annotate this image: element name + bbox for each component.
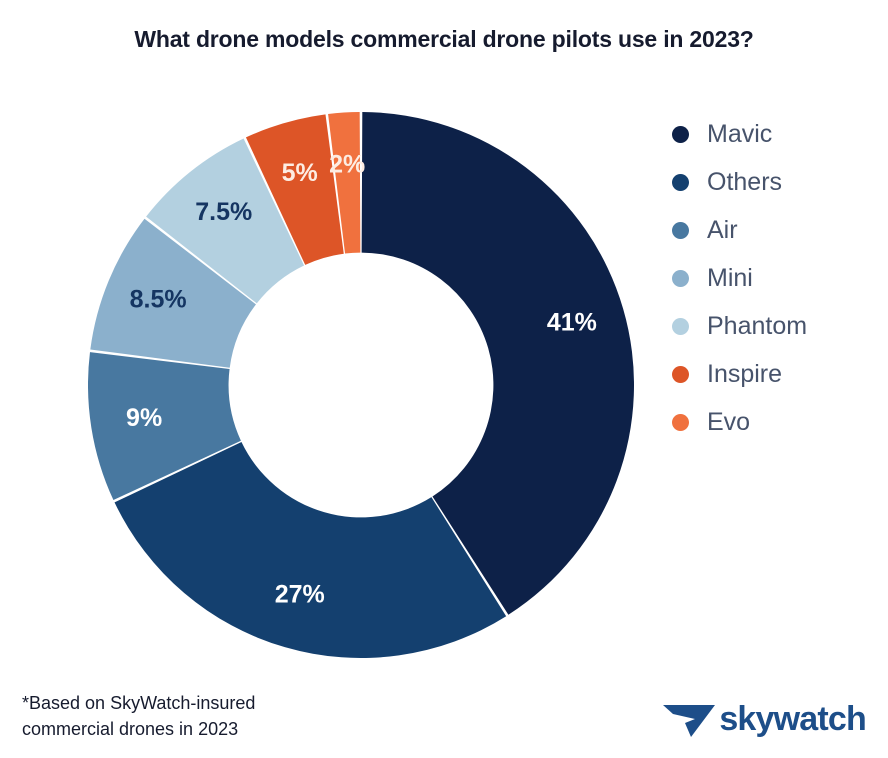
donut-chart: 41%27%9%8.5%7.5%5%2% — [88, 112, 634, 658]
donut-slice-label: 41% — [547, 308, 597, 336]
legend-color-swatch-icon — [672, 222, 689, 239]
legend-item[interactable]: Inspire — [672, 350, 882, 398]
donut-slices — [88, 112, 634, 658]
footnote: *Based on SkyWatch-insured commercial dr… — [22, 690, 255, 742]
legend-item[interactable]: Others — [672, 158, 882, 206]
legend-color-swatch-icon — [672, 366, 689, 383]
chart-legend: MavicOthersAirMiniPhantomInspireEvo — [672, 110, 882, 446]
logo-wordmark: skywatch — [719, 702, 866, 736]
donut-slice[interactable] — [115, 442, 507, 658]
donut-slice-label: 27% — [275, 580, 325, 608]
legend-item[interactable]: Mini — [672, 254, 882, 302]
legend-item-label: Phantom — [707, 314, 807, 339]
legend-item-label: Mavic — [707, 122, 772, 147]
donut-slice-label: 7.5% — [195, 198, 252, 226]
donut-chart-svg: 41%27%9%8.5%7.5%5%2% — [88, 112, 634, 658]
skywatch-wing-icon — [661, 699, 717, 739]
legend-color-swatch-icon — [672, 126, 689, 143]
skywatch-logo: skywatch — [661, 698, 866, 740]
donut-slice-label: 8.5% — [130, 286, 187, 314]
legend-item-label: Air — [707, 218, 738, 243]
page-title: What drone models commercial drone pilot… — [0, 26, 888, 53]
legend-item-label: Others — [707, 170, 782, 195]
legend-color-swatch-icon — [672, 318, 689, 335]
legend-item-label: Inspire — [707, 362, 782, 387]
legend-item-label: Evo — [707, 410, 750, 435]
legend-color-swatch-icon — [672, 174, 689, 191]
legend-item[interactable]: Mavic — [672, 110, 882, 158]
legend-item[interactable]: Air — [672, 206, 882, 254]
donut-slice-label: 2% — [329, 150, 365, 178]
donut-slice-label: 5% — [282, 159, 318, 187]
legend-item[interactable]: Phantom — [672, 302, 882, 350]
legend-item[interactable]: Evo — [672, 398, 882, 446]
legend-color-swatch-icon — [672, 270, 689, 287]
legend-color-swatch-icon — [672, 414, 689, 431]
legend-item-label: Mini — [707, 266, 753, 291]
donut-slice-label: 9% — [126, 404, 162, 432]
